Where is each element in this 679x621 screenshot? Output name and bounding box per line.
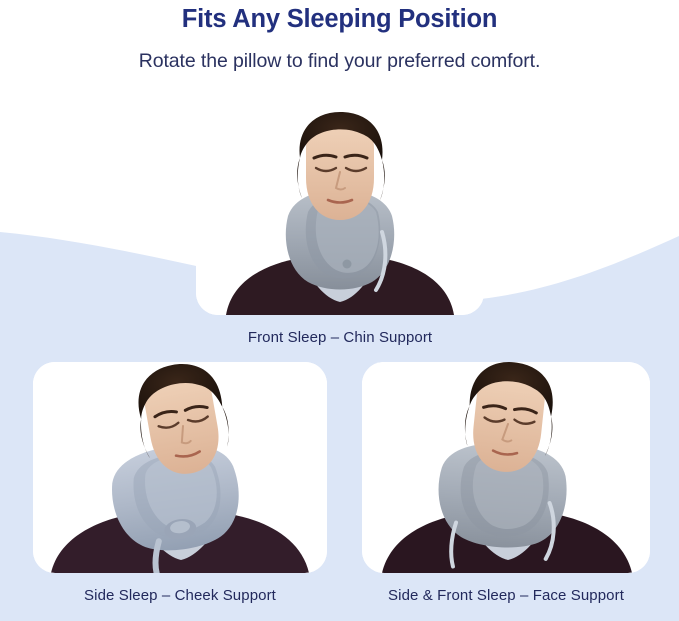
photo-side-front-sleep <box>362 362 650 573</box>
promo-panel: Fits Any Sleeping Position Rotate the pi… <box>0 0 679 621</box>
card-side-front-sleep[interactable] <box>362 362 650 573</box>
page-subtitle: Rotate the pillow to find your preferred… <box>0 36 679 73</box>
photo-side-sleep <box>33 362 327 573</box>
caption-front-sleep: Front Sleep – Chin Support <box>196 329 484 346</box>
card-side-sleep[interactable] <box>33 362 327 573</box>
caption-side-front-sleep: Side & Front Sleep – Face Support <box>345 587 667 604</box>
page-title: Fits Any Sleeping Position <box>0 0 679 36</box>
caption-side-sleep: Side Sleep – Cheek Support <box>20 587 340 604</box>
card-front-sleep[interactable] <box>196 112 484 315</box>
photo-front-sleep <box>196 112 484 315</box>
header: Fits Any Sleeping Position Rotate the pi… <box>0 0 679 73</box>
